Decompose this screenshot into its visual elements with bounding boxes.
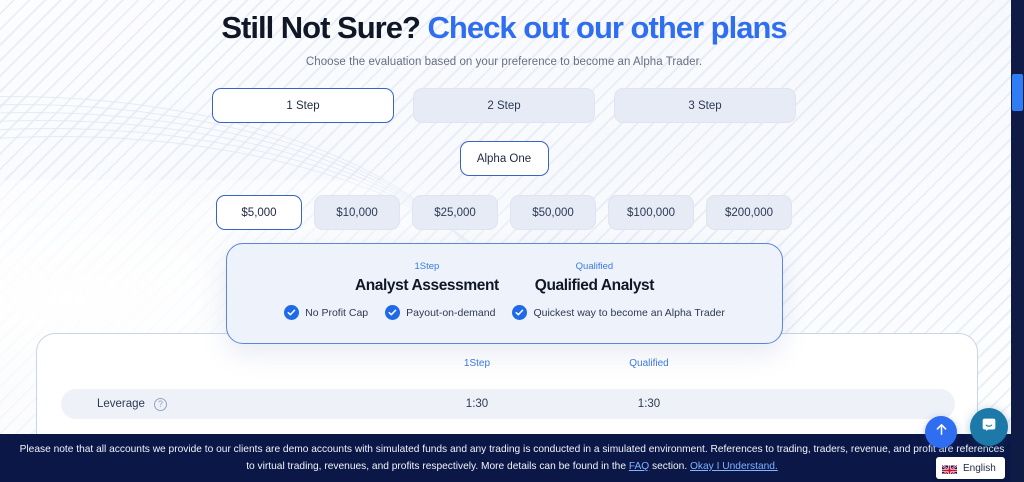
account-size-label: $200,000 <box>725 207 773 219</box>
plan-column-tag: 1Step <box>355 260 499 273</box>
language-selector[interactable]: English <box>936 457 1005 479</box>
page-scrollbar-thumb[interactable] <box>1012 74 1023 111</box>
plan-option-label: Alpha One <box>477 153 531 165</box>
account-size-option-100000[interactable]: $100,000 <box>608 195 694 230</box>
comparison-table-header: 1Step Qualified <box>37 358 977 369</box>
account-size-label: $5,000 <box>241 207 276 219</box>
account-size-option-50000[interactable]: $50,000 <box>510 195 596 230</box>
account-size-option-10000[interactable]: $10,000 <box>314 195 400 230</box>
step-option-label: 1 Step <box>286 100 319 112</box>
plan-feature-list: No Profit Cap Payout-on-demand Quickest … <box>227 305 782 320</box>
account-size-selector: $5,000 $10,000 $25,000 $50,000 $100,000 … <box>0 195 1008 230</box>
table-header-spacer <box>61 358 391 369</box>
step-option-label: 3 Step <box>688 100 721 112</box>
union-jack-flag-icon <box>942 463 957 474</box>
plan-feature-item: Payout-on-demand <box>385 305 495 320</box>
disclaimer-banner: Please note that all accounts we provide… <box>0 434 1024 482</box>
plan-feature-item: No Profit Cap <box>284 305 368 320</box>
chat-bubble-icon <box>979 415 999 440</box>
scroll-to-top-button[interactable] <box>925 416 957 448</box>
plan-feature-label: No Profit Cap <box>305 307 368 319</box>
account-size-label: $50,000 <box>532 207 574 219</box>
hero-section: Still Not Sure? Check out our other plan… <box>0 8 1008 68</box>
page-scrollbar-track[interactable] <box>1011 0 1024 482</box>
plan-option-alpha-one[interactable]: Alpha One <box>460 141 549 176</box>
plan-feature-item: Quickest way to become an Alpha Trader <box>512 305 724 320</box>
plan-selector: Alpha One <box>0 141 1008 176</box>
check-circle-icon <box>385 305 400 320</box>
check-circle-icon <box>284 305 299 320</box>
account-size-label: $25,000 <box>434 207 476 219</box>
step-option-1-step[interactable]: 1 Step <box>212 88 394 123</box>
disclaimer-text: Please note that all accounts we provide… <box>17 441 1007 475</box>
table-row-label: Leverage <box>97 398 145 410</box>
account-size-label: $10,000 <box>336 207 378 219</box>
table-row: Leverage ? 1:30 1:30 <box>61 389 955 419</box>
page-subtitle: Choose the evaluation based on your pref… <box>0 56 1008 68</box>
plan-column-name: Analyst Assessment <box>355 275 499 297</box>
check-circle-icon <box>512 305 527 320</box>
chat-widget-button[interactable] <box>970 408 1008 446</box>
step-selector: 1 Step 2 Step 3 Step <box>0 88 1008 123</box>
table-header-qualified: Qualified <box>563 358 735 369</box>
table-header-1step: 1Step <box>391 358 563 369</box>
table-row-label-cell: Leverage ? <box>97 398 391 411</box>
page-title: Still Not Sure? Check out our other plan… <box>0 8 1008 48</box>
page-title-blue: Check out our other plans <box>428 10 787 45</box>
step-option-3-step[interactable]: 3 Step <box>614 88 796 123</box>
language-label: English <box>963 463 996 474</box>
disclaimer-text-part2: section. <box>649 461 690 472</box>
page-title-dark: Still Not Sure? <box>221 10 420 45</box>
disclaimer-text-part1: Please note that all accounts we provide… <box>20 444 1005 472</box>
account-size-option-200000[interactable]: $200,000 <box>706 195 792 230</box>
plan-highlight-card: 1Step Analyst Assessment Qualified Quali… <box>226 243 783 344</box>
table-cell-qualified: 1:30 <box>563 398 735 410</box>
table-cell-1step: 1:30 <box>391 398 563 410</box>
plan-highlight-columns: 1Step Analyst Assessment Qualified Quali… <box>227 260 782 297</box>
plan-feature-label: Payout-on-demand <box>406 307 495 319</box>
account-size-option-25000[interactable]: $25,000 <box>412 195 498 230</box>
account-size-option-5000[interactable]: $5,000 <box>216 195 302 230</box>
step-option-2-step[interactable]: 2 Step <box>413 88 595 123</box>
plan-column-name: Qualified Analyst <box>535 275 654 297</box>
page-background: Still Not Sure? Check out our other plan… <box>0 0 1024 482</box>
plan-column-1step: 1Step Analyst Assessment <box>355 260 499 297</box>
accept-disclaimer-link[interactable]: Okay I Understand. <box>690 461 778 472</box>
plan-feature-label: Quickest way to become an Alpha Trader <box>533 307 724 319</box>
plan-column-qualified: Qualified Qualified Analyst <box>535 260 654 297</box>
plan-column-tag: Qualified <box>535 260 654 273</box>
arrow-up-icon <box>934 422 949 442</box>
help-icon[interactable]: ? <box>154 398 167 411</box>
step-option-label: 2 Step <box>487 100 520 112</box>
faq-link[interactable]: FAQ <box>629 461 649 472</box>
account-size-label: $100,000 <box>627 207 675 219</box>
